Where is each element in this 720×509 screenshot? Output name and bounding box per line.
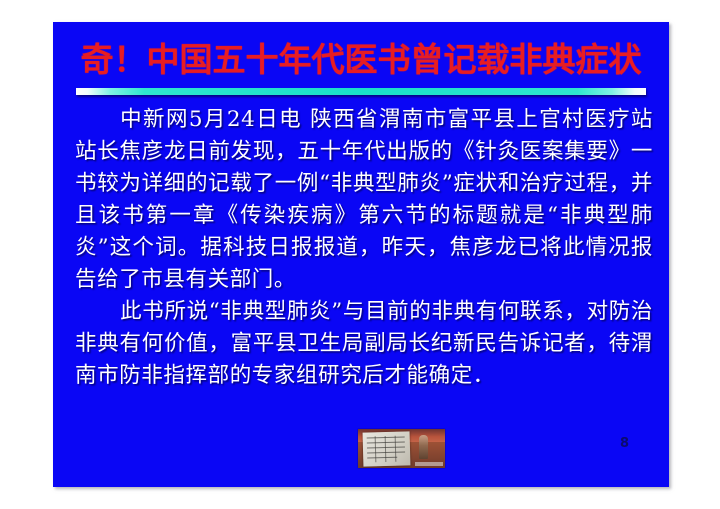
title-divider-rule (76, 88, 646, 95)
page-title: 奇！中国五十年代医书曾记载非典症状 (53, 40, 669, 80)
slide-page: 奇！中国五十年代医书曾记载非典症状 中新网5月24日电 陕西省渭南市富平县上官村… (0, 0, 720, 509)
photo-open-book-page (363, 431, 411, 466)
body-paragraph-2: 此书所说“非典型肺炎”与目前的非典有何联系，对防治非典有何价值，富平县卫生局副局… (75, 296, 653, 392)
body-paragraph-1: 中新网5月24日电 陕西省渭南市富平县上官村医疗站站长焦彦龙日前发现，五十年代出… (75, 104, 653, 296)
slide-canvas: 奇！中国五十年代医书曾记载非典症状 中新网5月24日电 陕西省渭南市富平县上官村… (53, 22, 669, 487)
photo-figure (419, 435, 428, 459)
slide-page-number: 8 (620, 437, 629, 450)
book-page-photo-image (358, 429, 445, 468)
slide-body-text: 中新网5月24日电 陕西省渭南市富平县上官村医疗站站长焦彦龙日前发现，五十年代出… (75, 104, 653, 392)
photo-watermark (415, 462, 443, 466)
